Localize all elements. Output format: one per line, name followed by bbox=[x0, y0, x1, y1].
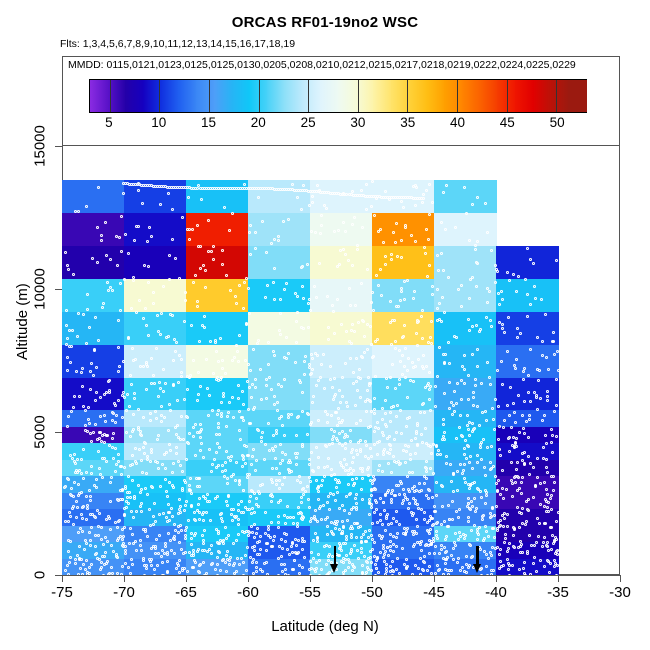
sample-marker bbox=[88, 566, 91, 569]
sample-marker bbox=[365, 208, 368, 211]
sample-marker bbox=[416, 525, 419, 528]
x-tick bbox=[620, 575, 621, 582]
sample-marker bbox=[116, 526, 119, 529]
sample-marker bbox=[379, 497, 382, 500]
sample-marker bbox=[329, 365, 332, 368]
sample-marker bbox=[526, 315, 529, 318]
sample-marker bbox=[173, 523, 176, 526]
sample-marker bbox=[376, 441, 379, 444]
colorbar-divider bbox=[159, 80, 160, 112]
sample-marker bbox=[504, 537, 507, 540]
sample-marker bbox=[513, 446, 516, 449]
sample-marker bbox=[489, 468, 492, 471]
x-tick bbox=[372, 575, 373, 582]
x-axis-title: Latitude (deg N) bbox=[0, 618, 650, 635]
sample-marker bbox=[162, 512, 165, 515]
sample-marker bbox=[526, 550, 529, 553]
sample-marker bbox=[107, 289, 110, 292]
sample-marker bbox=[77, 312, 80, 315]
sample-marker bbox=[78, 557, 81, 560]
sample-marker bbox=[409, 379, 412, 382]
sample-marker bbox=[349, 304, 352, 307]
sample-marker bbox=[369, 447, 372, 450]
sample-marker bbox=[395, 461, 398, 464]
sample-marker bbox=[272, 350, 275, 353]
sample-marker bbox=[81, 367, 84, 370]
sample-marker bbox=[511, 495, 514, 498]
sample-marker bbox=[457, 538, 460, 541]
sample-marker bbox=[176, 399, 179, 402]
sample-marker bbox=[292, 522, 295, 525]
sample-marker bbox=[541, 419, 544, 422]
sample-marker bbox=[415, 332, 418, 335]
sample-marker bbox=[352, 469, 355, 472]
sample-marker bbox=[360, 488, 363, 491]
sample-marker bbox=[89, 495, 92, 498]
sample-marker bbox=[489, 461, 492, 464]
sample-marker bbox=[103, 393, 106, 396]
sample-marker bbox=[396, 404, 399, 407]
sample-marker bbox=[445, 455, 448, 458]
sample-marker bbox=[181, 470, 184, 473]
sample-marker bbox=[506, 525, 509, 528]
sample-marker bbox=[190, 505, 193, 508]
sample-marker bbox=[237, 384, 240, 387]
colorbar-segment bbox=[444, 80, 462, 112]
heatmap-cell bbox=[62, 378, 125, 395]
sample-marker bbox=[333, 430, 336, 433]
sample-marker bbox=[551, 434, 554, 437]
sample-marker bbox=[499, 560, 502, 563]
sample-marker bbox=[207, 219, 210, 222]
sample-marker bbox=[359, 467, 362, 470]
sample-marker bbox=[518, 487, 521, 490]
sample-marker bbox=[351, 569, 354, 572]
sample-marker bbox=[486, 361, 489, 364]
sample-marker bbox=[181, 569, 184, 572]
sample-marker bbox=[533, 544, 536, 547]
sample-marker bbox=[279, 333, 282, 336]
sample-marker bbox=[124, 233, 127, 236]
sample-marker bbox=[249, 253, 252, 256]
sample-marker bbox=[381, 418, 384, 421]
sample-marker bbox=[419, 543, 422, 546]
heatmap-cell bbox=[434, 312, 497, 329]
sample-marker bbox=[367, 457, 370, 460]
heatmap-cell bbox=[186, 213, 249, 230]
sample-marker bbox=[370, 301, 373, 304]
sample-marker bbox=[92, 431, 95, 434]
sample-marker bbox=[390, 501, 393, 504]
sample-marker bbox=[486, 231, 489, 234]
sample-marker bbox=[443, 520, 446, 523]
flights-list: Flts: 1,3,4,5,6,7,8,9,10,11,12,13,14,15,… bbox=[60, 38, 295, 50]
sample-marker bbox=[384, 263, 387, 266]
sample-marker bbox=[440, 548, 443, 551]
sample-marker bbox=[240, 557, 243, 560]
sample-marker bbox=[457, 288, 460, 291]
sample-marker bbox=[165, 516, 168, 519]
colorbar-tick-label: 30 bbox=[350, 115, 365, 130]
sample-marker bbox=[255, 497, 258, 500]
sample-marker bbox=[131, 430, 134, 433]
mmdd-list: MMDD: 0115,0121,0123,0125,0125,0130,0205… bbox=[68, 59, 576, 71]
sample-marker bbox=[370, 561, 373, 564]
sample-marker bbox=[506, 558, 509, 561]
sample-marker bbox=[108, 444, 111, 447]
sample-marker bbox=[294, 361, 297, 364]
sample-marker bbox=[203, 326, 206, 329]
sample-marker bbox=[240, 511, 243, 514]
sample-marker bbox=[394, 494, 397, 497]
sample-marker bbox=[532, 466, 535, 469]
sample-marker bbox=[311, 357, 314, 360]
heatmap-cell bbox=[434, 246, 497, 263]
sample-marker bbox=[238, 429, 241, 432]
sample-marker bbox=[100, 239, 103, 242]
sample-marker bbox=[197, 503, 200, 506]
heatmap-cell bbox=[62, 229, 125, 246]
sample-marker bbox=[492, 465, 495, 468]
sample-marker bbox=[159, 203, 162, 206]
heatmap-cell bbox=[496, 394, 559, 411]
sample-marker bbox=[129, 496, 132, 499]
sample-marker bbox=[90, 472, 93, 475]
x-tick bbox=[62, 575, 63, 582]
sample-marker bbox=[468, 239, 471, 242]
sample-marker bbox=[467, 520, 470, 523]
sample-marker bbox=[264, 443, 267, 446]
sample-marker bbox=[383, 448, 386, 451]
colorbar-segment bbox=[196, 80, 214, 112]
sample-marker bbox=[333, 377, 336, 380]
sample-marker bbox=[389, 321, 392, 324]
heatmap-cell bbox=[434, 509, 497, 526]
sample-marker bbox=[98, 467, 101, 470]
sample-marker bbox=[428, 213, 431, 216]
sample-marker bbox=[422, 560, 425, 563]
sample-marker bbox=[143, 452, 146, 455]
sample-marker bbox=[347, 483, 350, 486]
sample-marker bbox=[320, 484, 323, 487]
sample-marker bbox=[363, 555, 366, 558]
heatmap-cell bbox=[186, 196, 249, 213]
sample-marker bbox=[376, 338, 379, 341]
sample-marker bbox=[424, 466, 427, 469]
sample-marker bbox=[274, 445, 277, 448]
sample-marker bbox=[142, 559, 145, 562]
sample-marker bbox=[432, 537, 435, 540]
sample-marker bbox=[131, 479, 134, 482]
sample-marker bbox=[120, 215, 123, 218]
sample-marker bbox=[512, 273, 515, 276]
sample-marker bbox=[254, 247, 257, 250]
sample-marker bbox=[453, 410, 456, 413]
sample-marker bbox=[437, 269, 440, 272]
sample-marker bbox=[172, 359, 175, 362]
sample-marker bbox=[174, 350, 177, 353]
sample-marker bbox=[314, 570, 317, 573]
sample-marker bbox=[217, 550, 220, 553]
sample-marker bbox=[506, 271, 509, 274]
sample-marker bbox=[164, 382, 167, 385]
sample-marker bbox=[290, 413, 293, 416]
sample-marker bbox=[403, 493, 406, 496]
sample-marker bbox=[334, 499, 337, 502]
sample-marker bbox=[342, 248, 345, 251]
sample-marker bbox=[175, 446, 178, 449]
sample-marker bbox=[241, 530, 244, 533]
sample-marker bbox=[427, 444, 430, 447]
sample-marker bbox=[125, 431, 128, 434]
sample-marker bbox=[334, 411, 337, 414]
x-tick-label: -55 bbox=[299, 584, 321, 601]
colorbar-segment bbox=[214, 80, 232, 112]
sample-marker bbox=[549, 562, 552, 565]
sample-marker bbox=[135, 225, 138, 228]
sample-marker bbox=[392, 455, 395, 458]
sample-marker bbox=[219, 513, 222, 516]
sample-marker bbox=[377, 469, 380, 472]
sample-marker bbox=[438, 552, 441, 555]
sample-marker bbox=[548, 571, 551, 574]
sample-marker bbox=[463, 354, 466, 357]
sample-marker bbox=[89, 513, 92, 516]
sample-marker bbox=[173, 552, 176, 555]
colorbar-segment bbox=[533, 80, 551, 112]
sample-marker bbox=[265, 378, 268, 381]
sample-marker bbox=[328, 508, 331, 511]
sample-marker bbox=[88, 422, 91, 425]
sample-marker bbox=[248, 386, 251, 389]
colorbar-segment bbox=[232, 80, 250, 112]
sample-marker bbox=[388, 452, 391, 455]
sample-marker bbox=[82, 477, 85, 480]
sample-marker bbox=[134, 447, 137, 450]
sample-marker bbox=[490, 515, 493, 518]
sample-marker bbox=[369, 325, 372, 328]
sample-marker bbox=[115, 414, 118, 417]
sample-marker bbox=[539, 482, 542, 485]
sample-marker bbox=[442, 191, 445, 194]
sample-marker bbox=[368, 382, 371, 385]
sample-marker bbox=[133, 397, 136, 400]
sample-marker bbox=[149, 524, 152, 527]
sample-marker bbox=[385, 563, 388, 566]
sample-marker bbox=[306, 485, 309, 488]
sample-marker bbox=[252, 448, 255, 451]
sample-marker bbox=[133, 392, 136, 395]
sample-marker bbox=[382, 501, 385, 504]
sample-marker bbox=[330, 414, 333, 417]
sample-marker bbox=[91, 257, 94, 260]
sample-marker bbox=[444, 353, 447, 356]
sample-marker bbox=[502, 525, 505, 528]
sample-marker bbox=[553, 481, 556, 484]
sample-marker bbox=[415, 432, 418, 435]
sample-marker bbox=[390, 406, 393, 409]
heatmap-cell bbox=[62, 279, 125, 296]
sample-marker bbox=[471, 325, 474, 328]
sample-marker bbox=[198, 564, 201, 567]
sample-marker bbox=[322, 504, 325, 507]
sample-marker bbox=[171, 471, 174, 474]
sample-marker bbox=[512, 526, 515, 529]
sample-marker bbox=[479, 548, 482, 551]
sample-marker bbox=[285, 336, 288, 339]
sample-marker bbox=[442, 418, 445, 421]
sample-marker bbox=[502, 426, 505, 429]
sample-marker bbox=[366, 566, 369, 569]
sample-marker bbox=[384, 190, 387, 193]
sample-marker bbox=[278, 487, 281, 490]
sample-marker bbox=[441, 438, 444, 441]
sample-marker bbox=[339, 544, 342, 547]
sample-marker bbox=[208, 394, 211, 397]
colorbar-tick-label: 35 bbox=[400, 115, 415, 130]
sample-marker bbox=[405, 425, 408, 428]
sample-marker bbox=[389, 565, 392, 568]
sample-marker bbox=[326, 465, 329, 468]
sample-marker bbox=[84, 424, 87, 427]
sample-marker bbox=[236, 350, 239, 353]
sample-marker bbox=[75, 516, 78, 519]
sample-marker bbox=[125, 409, 128, 412]
sample-marker bbox=[476, 454, 479, 457]
sample-marker bbox=[336, 298, 339, 301]
colorbar-segment bbox=[568, 80, 586, 112]
sample-marker bbox=[70, 345, 73, 348]
sample-marker bbox=[490, 445, 493, 448]
colorbar-segment bbox=[285, 80, 303, 112]
sample-marker bbox=[174, 257, 177, 260]
sample-marker bbox=[155, 417, 158, 420]
sample-marker bbox=[400, 290, 403, 293]
sample-marker bbox=[254, 231, 257, 234]
sample-marker bbox=[215, 466, 218, 469]
sample-marker bbox=[221, 359, 224, 362]
heatmap-cell bbox=[496, 460, 559, 477]
sample-marker bbox=[64, 569, 67, 572]
sample-marker bbox=[332, 493, 335, 496]
sample-marker bbox=[289, 516, 292, 519]
sample-marker bbox=[471, 422, 474, 425]
sample-marker bbox=[96, 261, 99, 264]
sample-marker bbox=[461, 472, 464, 475]
sample-marker bbox=[331, 304, 334, 307]
x-tick bbox=[496, 575, 497, 582]
sample-marker bbox=[297, 539, 300, 542]
sample-marker bbox=[247, 287, 250, 290]
heatmap-cell bbox=[186, 246, 249, 263]
sample-marker bbox=[369, 550, 372, 553]
sample-marker bbox=[412, 545, 415, 548]
sample-marker bbox=[315, 384, 318, 387]
sample-marker bbox=[547, 549, 550, 552]
sample-marker bbox=[123, 513, 126, 516]
sample-marker bbox=[202, 264, 205, 267]
sample-marker bbox=[254, 469, 257, 472]
sample-marker bbox=[202, 495, 205, 498]
sample-marker bbox=[202, 542, 205, 545]
sample-marker bbox=[198, 497, 201, 500]
colorbar-segment bbox=[90, 80, 108, 112]
sample-marker bbox=[350, 329, 353, 332]
sample-marker bbox=[476, 528, 479, 531]
sample-marker bbox=[383, 553, 386, 556]
sample-marker bbox=[249, 369, 252, 372]
sample-marker bbox=[217, 409, 220, 412]
sample-marker bbox=[78, 395, 81, 398]
sample-marker bbox=[333, 395, 336, 398]
x-tick-label: -40 bbox=[485, 584, 507, 601]
sample-marker bbox=[402, 449, 405, 452]
sample-marker bbox=[423, 246, 426, 249]
sample-marker bbox=[89, 370, 92, 373]
sample-marker bbox=[250, 525, 253, 528]
sample-marker bbox=[199, 245, 202, 248]
sample-marker bbox=[109, 286, 112, 289]
sample-marker bbox=[500, 290, 503, 293]
sample-marker bbox=[140, 459, 143, 462]
sample-marker bbox=[311, 195, 314, 198]
sample-marker bbox=[179, 464, 182, 467]
sample-marker bbox=[300, 496, 303, 499]
sample-marker bbox=[258, 492, 261, 495]
sample-marker bbox=[248, 312, 251, 315]
sample-marker bbox=[557, 369, 560, 372]
sample-marker bbox=[515, 468, 518, 471]
sample-marker bbox=[199, 385, 202, 388]
sample-marker bbox=[110, 476, 113, 479]
sample-marker bbox=[327, 338, 330, 341]
sample-marker bbox=[349, 429, 352, 432]
sample-marker bbox=[150, 448, 153, 451]
colorbar-segment bbox=[427, 80, 445, 112]
sample-marker bbox=[403, 365, 406, 368]
sample-marker bbox=[335, 486, 338, 489]
sample-marker bbox=[425, 470, 428, 473]
sample-marker bbox=[100, 234, 103, 237]
sample-marker bbox=[515, 358, 518, 361]
sample-marker bbox=[436, 453, 439, 456]
sample-marker bbox=[443, 362, 446, 365]
sample-marker bbox=[107, 380, 110, 383]
sample-marker bbox=[135, 462, 138, 465]
colorbar-tick-label: 20 bbox=[251, 115, 266, 130]
sample-marker bbox=[367, 376, 370, 379]
sample-marker bbox=[522, 427, 525, 430]
sample-marker bbox=[154, 520, 157, 523]
colorbar-tick-label: 40 bbox=[450, 115, 465, 130]
sample-marker bbox=[329, 378, 332, 381]
sample-marker bbox=[467, 374, 470, 377]
heatmap-cell bbox=[248, 361, 311, 378]
sample-marker bbox=[382, 434, 385, 437]
sample-marker bbox=[202, 519, 205, 522]
sample-marker bbox=[447, 504, 450, 507]
sample-marker bbox=[452, 558, 455, 561]
sample-marker bbox=[129, 435, 132, 438]
sample-marker bbox=[405, 530, 408, 533]
sample-marker bbox=[523, 451, 526, 454]
sample-marker bbox=[483, 466, 486, 469]
sample-marker bbox=[398, 463, 401, 466]
sample-marker bbox=[379, 519, 382, 522]
sample-marker bbox=[192, 566, 195, 569]
sample-marker bbox=[105, 460, 108, 463]
sample-marker bbox=[161, 561, 164, 564]
